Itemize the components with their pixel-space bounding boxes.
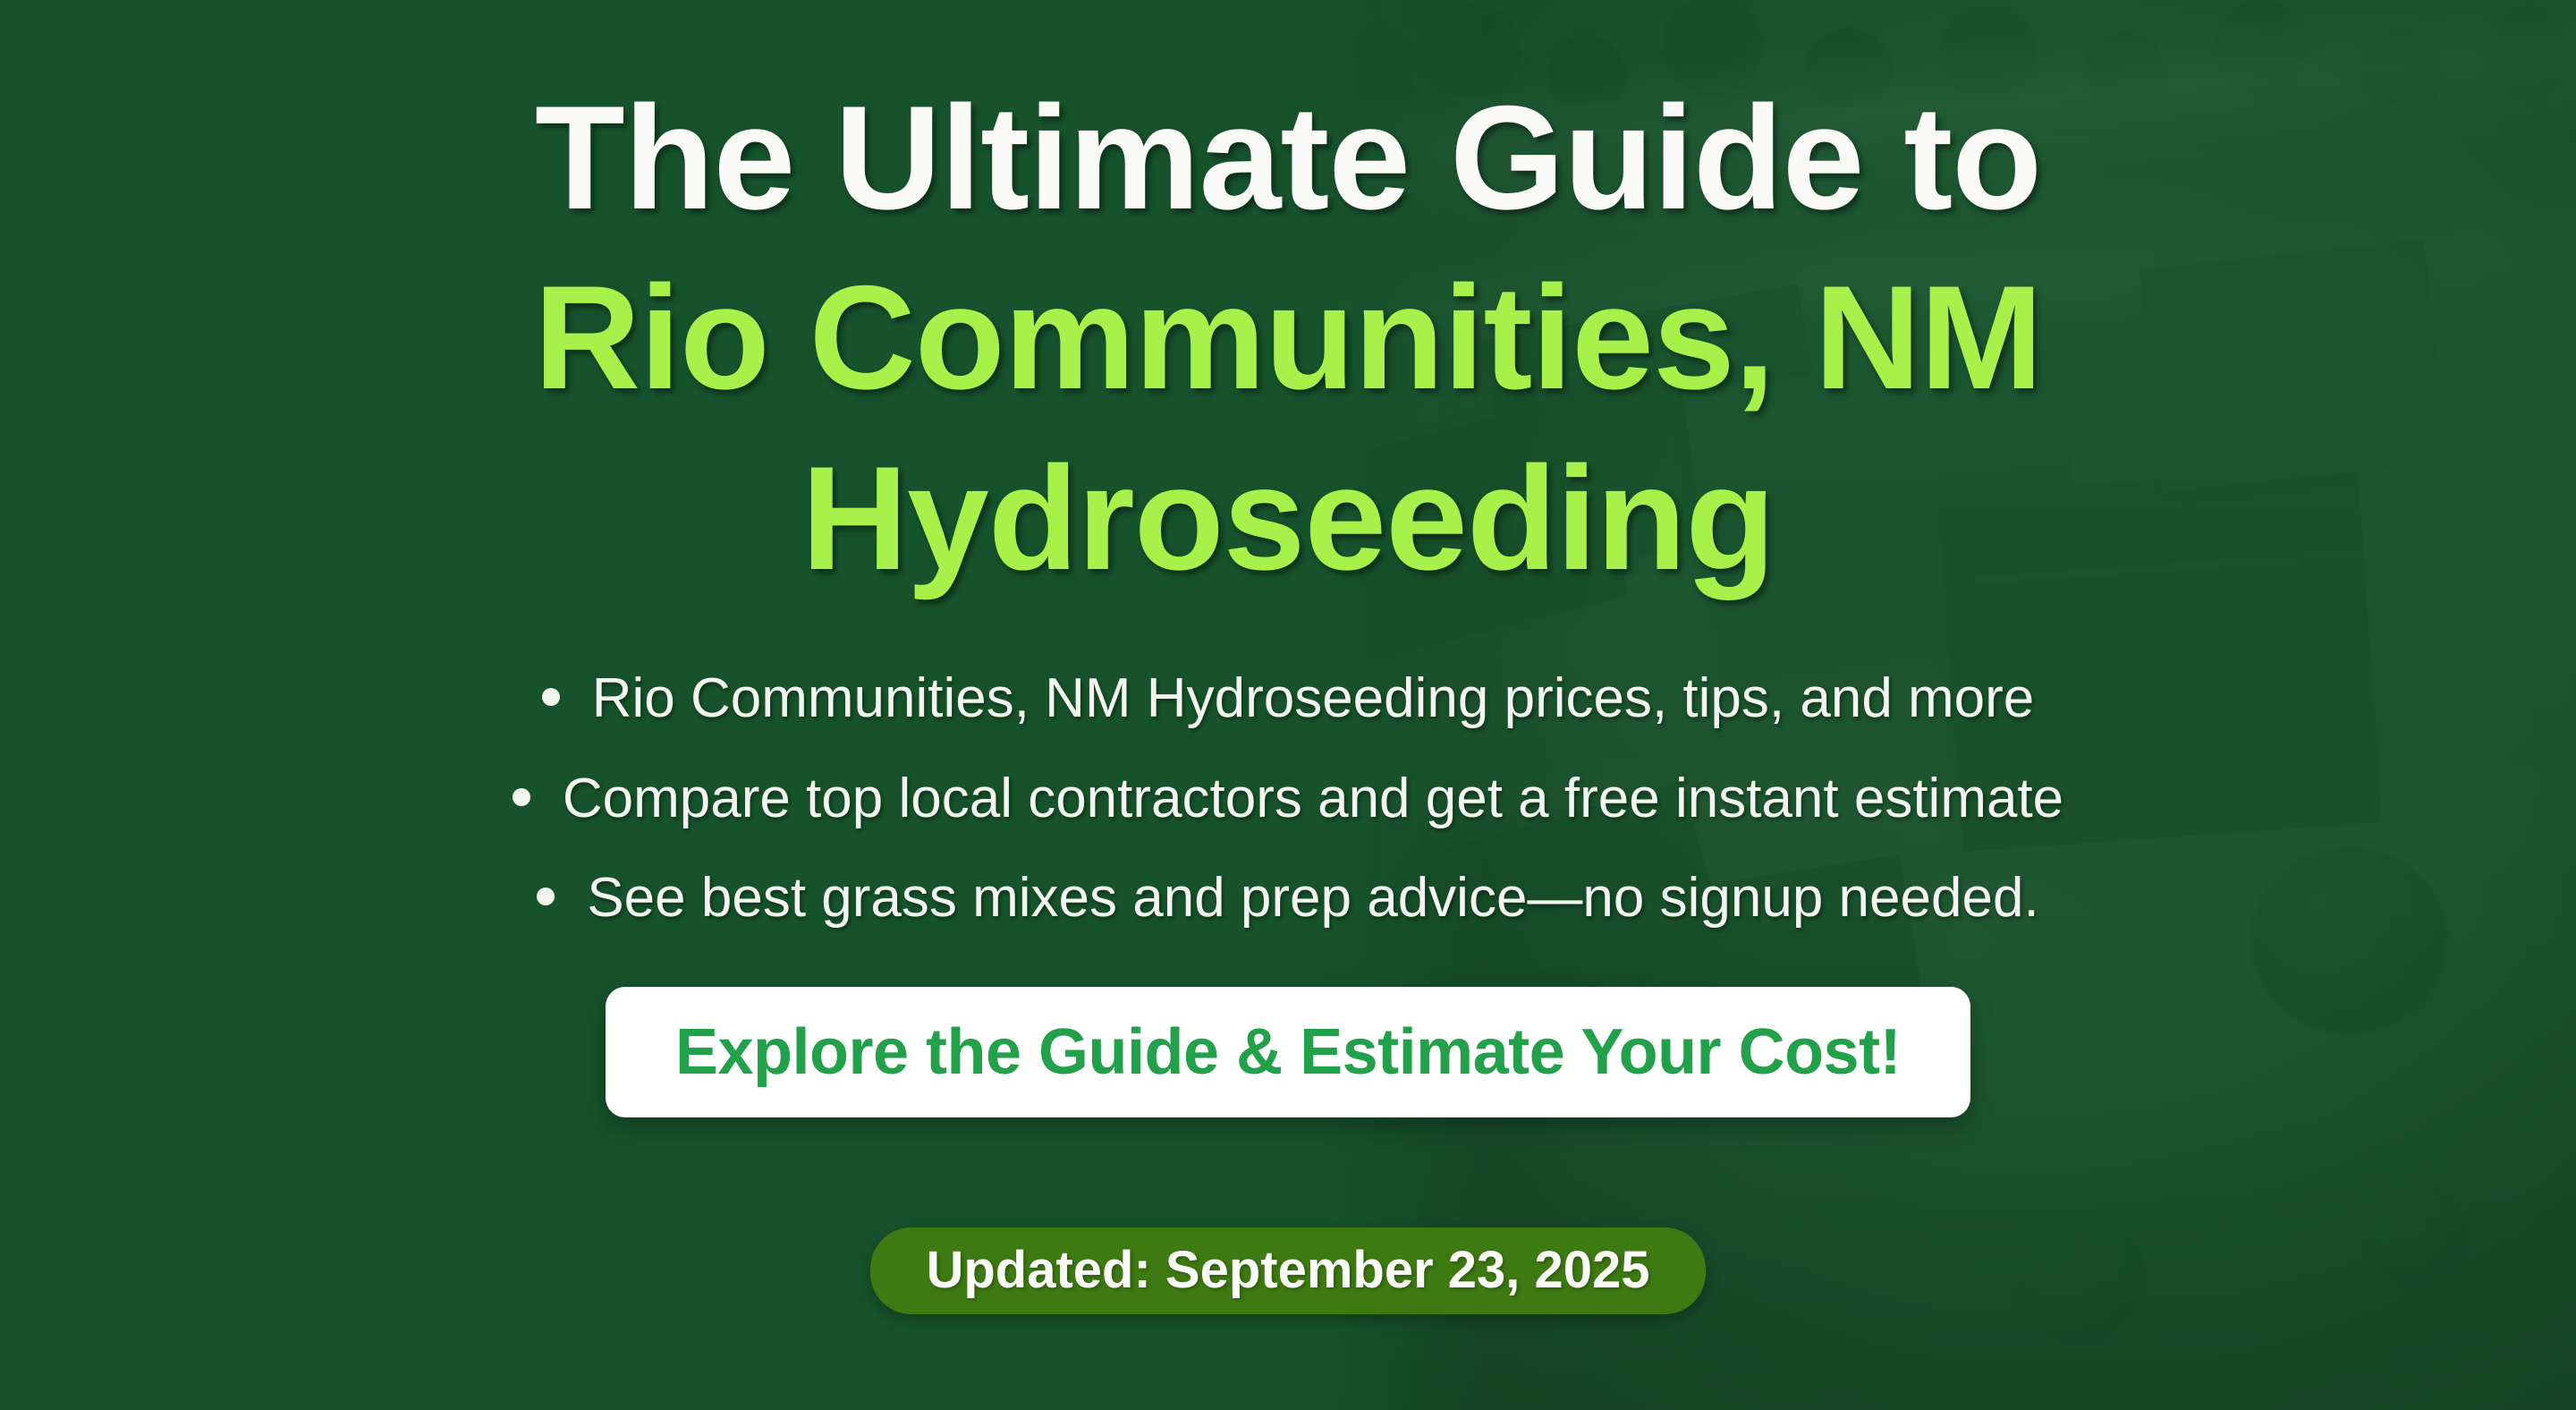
list-item: Compare top local contractors and get a … — [0, 769, 2576, 828]
headline-line-2: Rio Communities, NM — [0, 248, 2576, 428]
list-item-label: Compare top local contractors and get a … — [563, 769, 2063, 828]
last-updated-badge: Updated: September 23, 2025 — [870, 1227, 1705, 1314]
benefit-list: Rio Communities, NM Hydroseeding prices,… — [0, 669, 2576, 969]
list-item-label: Rio Communities, NM Hydroseeding prices,… — [592, 669, 2035, 728]
bullet-dot-icon — [537, 888, 555, 905]
list-item: See best grass mixes and prep advice—no … — [0, 869, 2576, 928]
badge-container: Updated: September 23, 2025 — [0, 1227, 2576, 1314]
headline-line-1: The Ultimate Guide to — [0, 68, 2576, 248]
page-title: The Ultimate Guide to Rio Communities, N… — [0, 68, 2576, 608]
headline-line-3: Hydroseeding — [0, 429, 2576, 608]
cta-container: Explore the Guide & Estimate Your Cost! — [0, 987, 2576, 1117]
bullet-dot-icon — [542, 688, 560, 706]
list-item-label: See best grass mixes and prep advice—no … — [587, 869, 2038, 928]
explore-guide-button[interactable]: Explore the Guide & Estimate Your Cost! — [606, 987, 1970, 1117]
list-item: Rio Communities, NM Hydroseeding prices,… — [0, 669, 2576, 728]
bullet-dot-icon — [513, 788, 530, 806]
hero-banner: The Ultimate Guide to Rio Communities, N… — [0, 0, 2576, 1410]
